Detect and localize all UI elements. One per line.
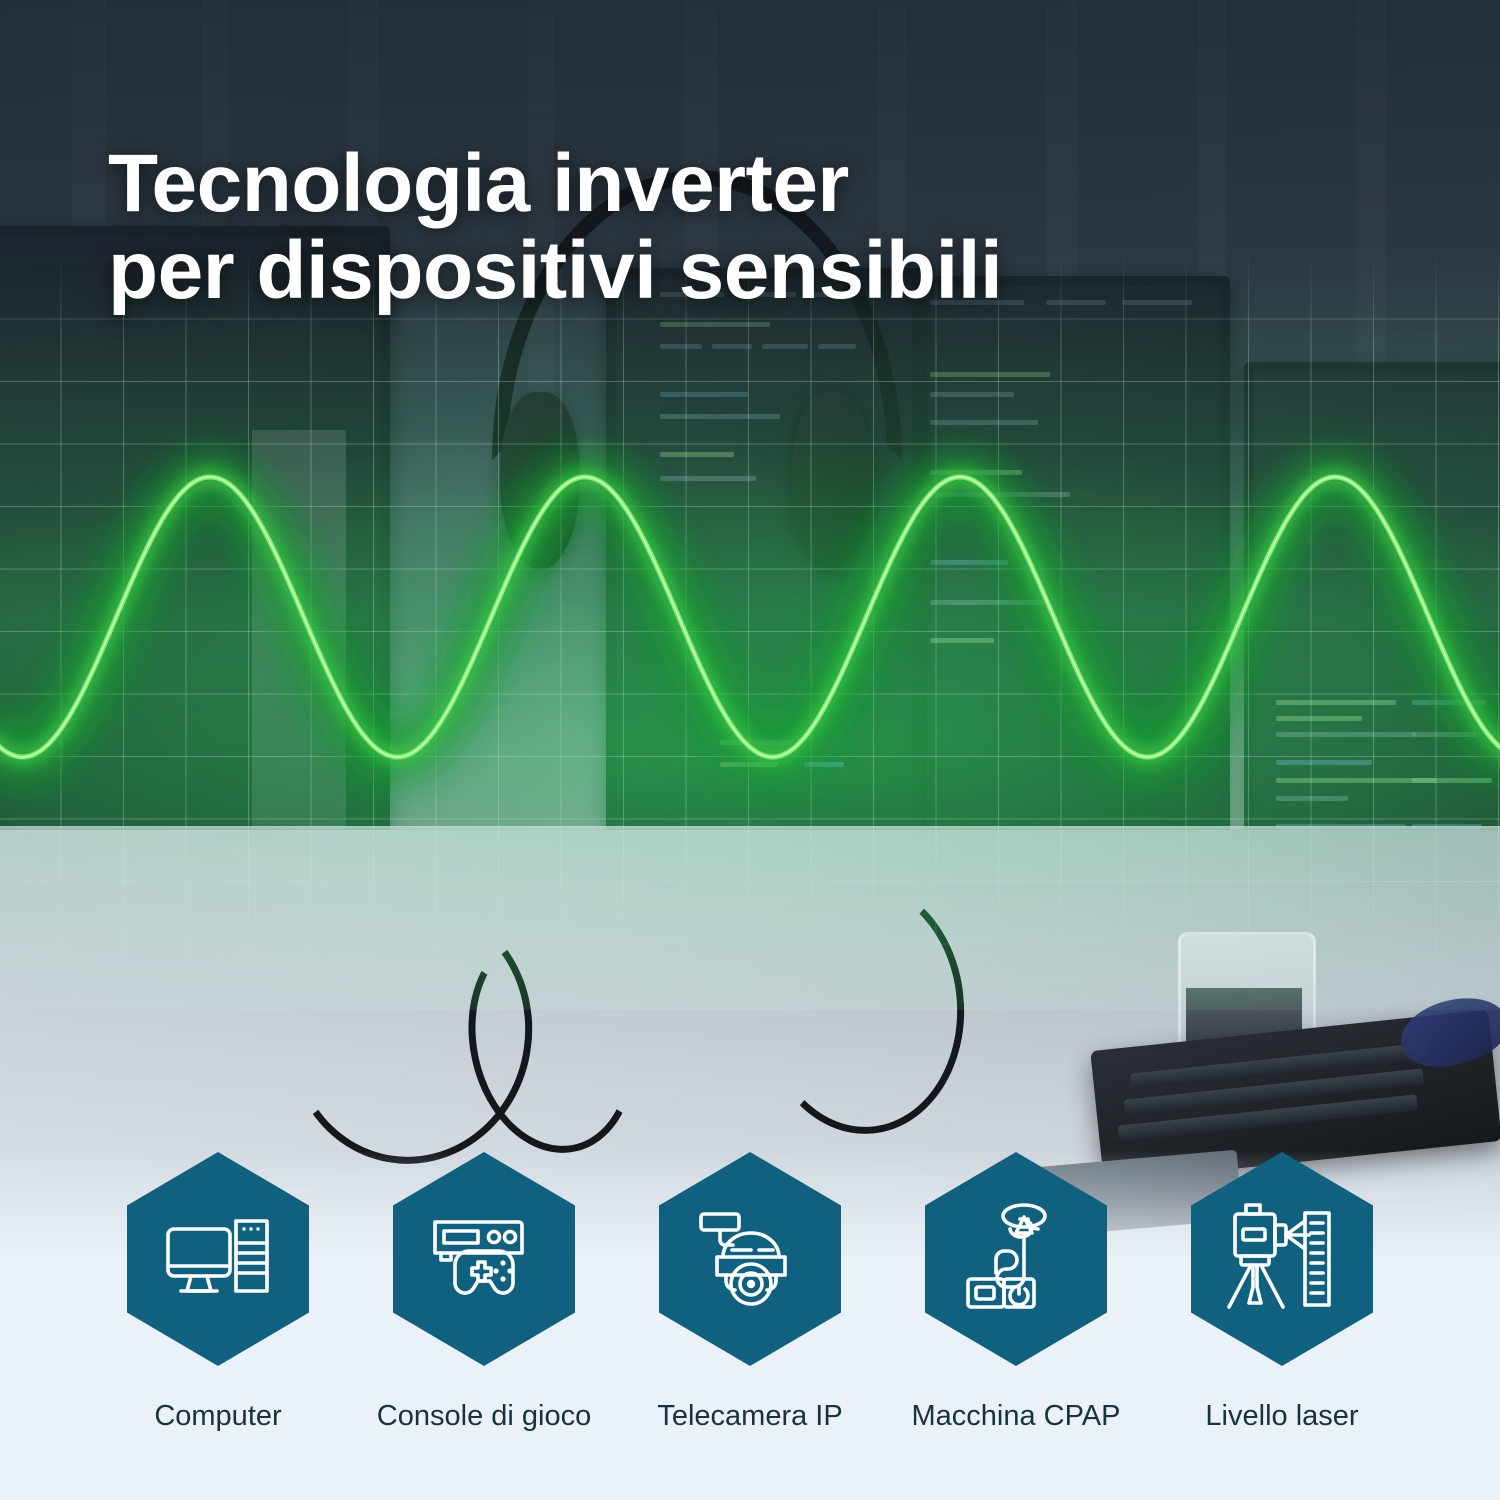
device-item-laser-level[interactable]: Livello laser [1191, 1152, 1373, 1452]
hex-badge-computer [127, 1152, 309, 1366]
hex-badge-ip-camera [659, 1152, 841, 1366]
hex-badge-cpap [925, 1152, 1107, 1366]
device-list: Computer Console [0, 1152, 1500, 1452]
laser-level-icon [1227, 1203, 1337, 1315]
desktop-computer-icon [165, 1217, 271, 1301]
device-label: Livello laser [1205, 1402, 1358, 1431]
device-label: Macchina CPAP [912, 1402, 1121, 1431]
hex-badge-laser-level [1191, 1152, 1373, 1366]
device-item-computer[interactable]: Computer [127, 1152, 309, 1452]
device-item-game-console[interactable]: Console di gioco [393, 1152, 575, 1452]
device-label: Computer [154, 1402, 281, 1431]
game-console-icon [431, 1216, 537, 1302]
device-label: Console di gioco [377, 1402, 591, 1431]
device-item-ip-camera[interactable]: Telecamera IP [659, 1152, 841, 1452]
device-label: Telecamera IP [657, 1402, 842, 1431]
page-title: Tecnologia inverter per dispositivi sens… [108, 141, 1002, 315]
promo-banner: Tecnologia inverter per dispositivi sens… [0, 0, 1500, 1500]
ip-dome-camera-icon [699, 1210, 801, 1308]
cpap-machine-icon [966, 1203, 1066, 1315]
hex-badge-game-console [393, 1152, 575, 1366]
device-item-cpap[interactable]: Macchina CPAP [925, 1152, 1107, 1452]
